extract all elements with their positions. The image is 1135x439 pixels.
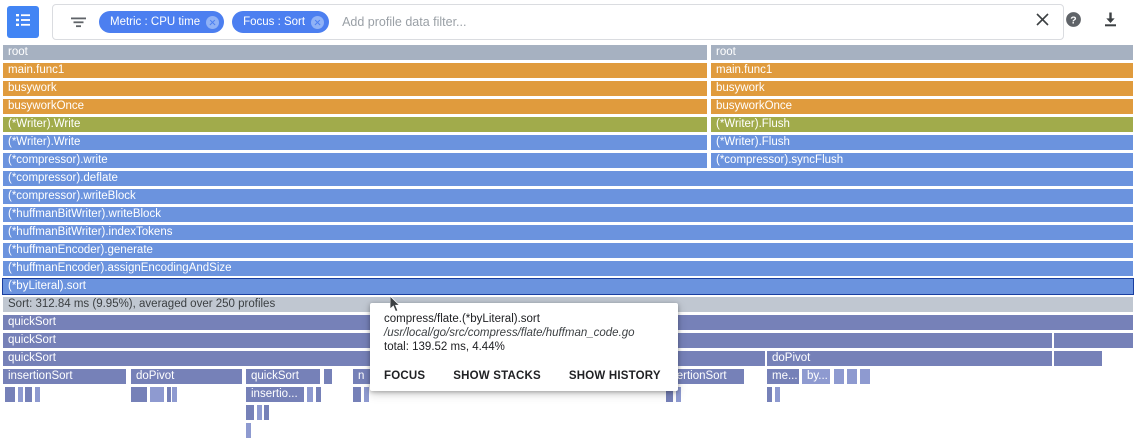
flame-frame[interactable]: doPivot bbox=[766, 350, 1053, 367]
flame-frame-label: Sort: 312.84 ms (9.95%), averaged over 2… bbox=[8, 298, 275, 310]
toolbar: Metric : CPU time Focus : Sort ? bbox=[0, 0, 1135, 44]
filter-chip-metric[interactable]: Metric : CPU time bbox=[99, 11, 224, 33]
flame-frame[interactable] bbox=[306, 386, 314, 403]
flame-frame-label: main.func1 bbox=[8, 64, 64, 76]
flame-frame-label: (*Writer).Flush bbox=[716, 136, 790, 148]
show-history-action[interactable]: SHOW HISTORY bbox=[569, 370, 661, 382]
tooltip-file-path: /usr/local/go/src/compress/flate/huffman… bbox=[384, 327, 664, 339]
flame-frame-label: main.func1 bbox=[716, 64, 772, 76]
flame-frame[interactable]: (*compressor).write bbox=[2, 152, 708, 169]
flame-frame[interactable]: (*huffmanBitWriter).indexTokens bbox=[2, 224, 1134, 241]
flame-frame[interactable]: (*Writer).Flush bbox=[710, 134, 1134, 151]
flame-frame[interactable]: (*compressor).deflate bbox=[2, 170, 1134, 187]
download-button[interactable] bbox=[1098, 10, 1122, 34]
flame-frame[interactable] bbox=[256, 404, 263, 421]
flame-frame[interactable]: (*Writer).Flush bbox=[710, 116, 1134, 133]
menu-button[interactable] bbox=[7, 6, 39, 38]
flame-frame[interactable]: me... bbox=[766, 368, 800, 385]
svg-text:?: ? bbox=[1070, 14, 1076, 26]
filter-chip-focus[interactable]: Focus : Sort bbox=[232, 11, 329, 33]
flame-frame[interactable] bbox=[130, 386, 148, 403]
tooltip-function-name: compress/flate.(*byLiteral).sort bbox=[384, 313, 664, 325]
focus-action[interactable]: FOCUS bbox=[384, 370, 425, 382]
flame-frame[interactable] bbox=[263, 404, 270, 421]
flame-frame-label: quickSort bbox=[8, 334, 56, 346]
filter-input[interactable] bbox=[340, 14, 1027, 30]
tooltip-total: total: 139.52 ms, 4.44% bbox=[384, 341, 664, 353]
flame-frame[interactable] bbox=[149, 386, 165, 403]
flame-frame[interactable] bbox=[4, 386, 16, 403]
flame-frame-label: (*Writer).Write bbox=[8, 118, 80, 130]
clear-filter-button[interactable] bbox=[1027, 7, 1057, 37]
flame-frame-label: by... bbox=[807, 370, 828, 382]
help-circle-icon: ? bbox=[1065, 11, 1082, 33]
flame-frame[interactable]: busyworkOnce bbox=[2, 98, 708, 115]
flame-frame-label: root bbox=[716, 46, 736, 58]
flame-frame[interactable] bbox=[1053, 332, 1134, 349]
flame-frame[interactable] bbox=[245, 422, 252, 439]
flame-frame-label: n bbox=[358, 370, 364, 382]
flame-frame[interactable]: (*compressor).writeBlock bbox=[2, 188, 1134, 205]
flame-frame[interactable]: (*Writer).Write bbox=[2, 134, 708, 151]
flame-frame-label: quickSort bbox=[8, 316, 56, 328]
flame-frame-label: (*huffmanEncoder).generate bbox=[8, 244, 153, 256]
tooltip-actions: FOCUS SHOW STACKS SHOW HISTORY bbox=[384, 370, 661, 382]
flame-frame[interactable] bbox=[846, 368, 858, 385]
flame-frame-label: busyworkOnce bbox=[8, 100, 84, 112]
flame-frame[interactable] bbox=[17, 386, 24, 403]
flame-frame[interactable] bbox=[1053, 350, 1103, 367]
flame-frame[interactable] bbox=[323, 368, 333, 385]
flame-frame-label: sertionSort bbox=[671, 370, 727, 382]
flame-frame[interactable]: root bbox=[710, 44, 1134, 61]
flame-frame[interactable]: busywork bbox=[710, 80, 1134, 97]
show-stacks-action[interactable]: SHOW STACKS bbox=[453, 370, 541, 382]
flame-frame-label: (*compressor).deflate bbox=[8, 172, 118, 184]
close-icon bbox=[1034, 11, 1051, 33]
flame-frame-label: doPivot bbox=[772, 352, 810, 364]
flame-frame-label: (*huffmanBitWriter).indexTokens bbox=[8, 226, 172, 238]
chip-label: Metric : CPU time bbox=[110, 16, 200, 28]
flame-frame[interactable] bbox=[774, 386, 781, 403]
close-circle-icon[interactable] bbox=[311, 16, 324, 29]
flame-frame-label: (*compressor).syncFlush bbox=[716, 154, 843, 166]
flame-frame[interactable]: (*huffmanEncoder).generate bbox=[2, 242, 1134, 259]
flame-frame[interactable] bbox=[34, 386, 41, 403]
help-button[interactable]: ? bbox=[1061, 10, 1085, 34]
flame-frame[interactable]: insertio... bbox=[245, 386, 305, 403]
flame-frame-label: (*huffmanEncoder).assignEncodingAndSize bbox=[8, 262, 232, 274]
flame-frame[interactable] bbox=[315, 386, 322, 403]
flame-frame[interactable]: main.func1 bbox=[2, 62, 708, 79]
flame-frame[interactable]: doPivot bbox=[130, 368, 243, 385]
flame-frame[interactable] bbox=[833, 368, 845, 385]
flame-frame-label: quickSort bbox=[8, 352, 56, 364]
flame-frame[interactable]: main.func1 bbox=[710, 62, 1134, 79]
flame-frame-label: busywork bbox=[8, 82, 57, 94]
flame-frame-label: (*compressor).writeBlock bbox=[8, 190, 136, 202]
flame-frame-label: me... bbox=[772, 370, 798, 382]
flame-frame[interactable] bbox=[859, 368, 871, 385]
filter-funnel-icon[interactable] bbox=[65, 15, 91, 30]
flame-frame[interactable]: (*compressor).syncFlush bbox=[710, 152, 1134, 169]
flame-frame[interactable] bbox=[363, 386, 370, 403]
chip-label: Focus : Sort bbox=[243, 16, 305, 28]
flame-frame[interactable]: (*huffmanEncoder).assignEncodingAndSize bbox=[2, 260, 1134, 277]
flame-frame-label: insertio... bbox=[251, 388, 298, 400]
frame-tooltip: compress/flate.(*byLiteral).sort /usr/lo… bbox=[370, 303, 678, 391]
flame-frame[interactable] bbox=[352, 386, 362, 403]
flame-frame[interactable] bbox=[171, 386, 178, 403]
flame-frame[interactable] bbox=[245, 404, 255, 421]
flame-frame[interactable]: root bbox=[2, 44, 708, 61]
flame-frame-label: busyworkOnce bbox=[716, 100, 792, 112]
filter-bar[interactable]: Metric : CPU time Focus : Sort bbox=[52, 4, 1064, 40]
flame-frame-label: (*Writer).Flush bbox=[716, 118, 790, 130]
flame-frame-label: (*huffmanBitWriter).writeBlock bbox=[8, 208, 161, 220]
download-icon bbox=[1102, 11, 1119, 33]
flame-frame-label: root bbox=[8, 46, 28, 58]
flame-frame[interactable]: busyworkOnce bbox=[710, 98, 1134, 115]
flame-frame[interactable]: by... bbox=[801, 368, 831, 385]
flame-frame-label: (*Writer).Write bbox=[8, 136, 80, 148]
flame-frame-label: insertionSort bbox=[8, 370, 73, 382]
close-circle-icon[interactable] bbox=[206, 16, 219, 29]
flame-frame[interactable]: (*huffmanBitWriter).writeBlock bbox=[2, 206, 1134, 223]
flame-frame-label: (*byLiteral).sort bbox=[8, 280, 86, 292]
flame-frame-label: quickSort bbox=[251, 370, 299, 382]
flame-frame-label: busywork bbox=[716, 82, 765, 94]
flame-frame-label: doPivot bbox=[136, 370, 174, 382]
flame-frame[interactable]: insertionSort bbox=[2, 368, 127, 385]
flame-frame[interactable] bbox=[766, 386, 773, 403]
flame-frame[interactable]: (*byLiteral).sort bbox=[2, 278, 1134, 295]
flame-frame[interactable]: quickSort bbox=[245, 368, 321, 385]
flame-frame[interactable]: (*Writer).Write bbox=[2, 116, 708, 133]
flame-frame[interactable]: busywork bbox=[2, 80, 708, 97]
flame-frame-label: (*compressor).write bbox=[8, 154, 108, 166]
flame-frame[interactable] bbox=[24, 386, 33, 403]
list-menu-icon bbox=[15, 12, 31, 33]
